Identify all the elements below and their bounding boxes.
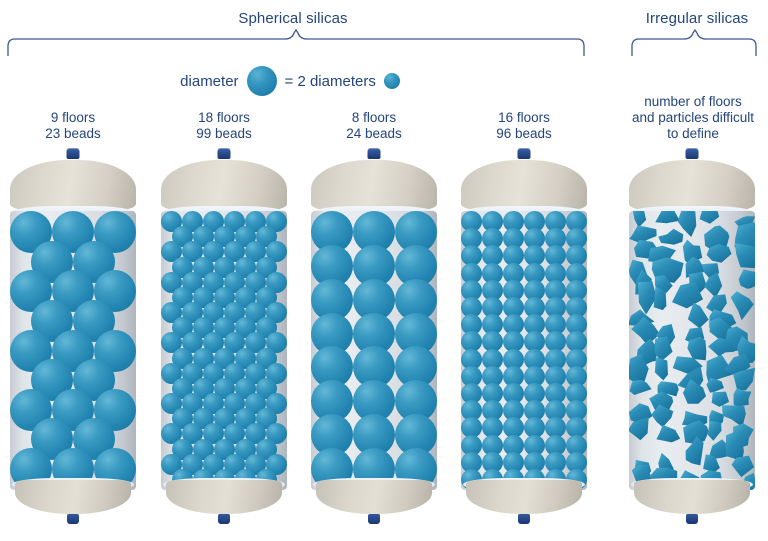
caption-column-3: 8 floors 24 beads — [311, 110, 437, 142]
brace-irregular — [630, 30, 758, 56]
caption-line-beads: 99 beads — [161, 126, 287, 142]
irregular-particle — [655, 211, 680, 223]
column-base — [466, 480, 582, 514]
irregular-particle — [656, 425, 680, 443]
column-base — [634, 480, 750, 514]
column-tube — [461, 211, 587, 490]
top-fitting-icon — [518, 148, 531, 159]
column-base — [166, 480, 282, 514]
caption-line-beads: 96 beads — [461, 126, 587, 142]
bottom-fitting-icon — [368, 514, 380, 524]
diagram-canvas: Spherical silicas Irregular silicas diam… — [0, 0, 768, 541]
small-bead-swatch-icon — [384, 73, 400, 89]
irregular-particle — [700, 211, 720, 224]
irregular-particle — [655, 357, 668, 380]
irregular-particle — [708, 421, 722, 441]
caption-column-1: 9 floors 23 beads — [10, 110, 136, 142]
group-title-spherical: Spherical silicas — [188, 10, 398, 27]
group-title-irregular: Irregular silicas — [612, 10, 768, 27]
column-base — [316, 480, 432, 514]
irregular-particle — [734, 388, 752, 407]
top-fitting-icon — [67, 148, 80, 159]
legend-prefix-label: diameter — [180, 73, 238, 90]
packing-area — [311, 211, 437, 490]
column-4 — [461, 148, 587, 536]
irregular-particle — [687, 337, 706, 361]
irregular-particle — [704, 272, 722, 298]
column-1 — [10, 148, 136, 536]
column-2 — [161, 148, 287, 536]
column-3 — [311, 148, 437, 536]
irregular-particle — [712, 392, 729, 407]
irregular-particle — [638, 281, 657, 314]
caption-line-floors: 8 floors — [311, 110, 437, 126]
caption-line-beads: 24 beads — [311, 126, 437, 142]
column-cap — [461, 160, 587, 210]
bottom-fitting-icon — [686, 514, 698, 524]
caption-line-floors: 9 floors — [10, 110, 136, 126]
column-tube — [10, 211, 136, 490]
legend-equals-label: = 2 diameters — [285, 73, 376, 90]
caption-column-4: 16 floors 96 beads — [461, 110, 587, 142]
irregular-particle — [630, 380, 652, 395]
packing-area — [461, 211, 587, 490]
irregular-particle — [688, 303, 709, 329]
caption-column-2: 18 floors 99 beads — [161, 110, 287, 142]
caption-line-1: number of floors — [618, 94, 768, 110]
caption-line-3: to define — [618, 126, 768, 142]
irregular-particle — [731, 291, 754, 320]
large-bead-swatch-icon — [247, 66, 277, 96]
caption-line-beads: 23 beads — [10, 126, 136, 142]
bottom-fitting-icon — [218, 514, 230, 524]
packing-area — [10, 211, 136, 490]
packing-area — [629, 211, 755, 490]
top-fitting-icon — [686, 148, 699, 159]
column-cap — [629, 160, 755, 210]
irregular-particle — [735, 243, 755, 268]
irregular-particle-field — [629, 211, 755, 490]
column-cap — [311, 160, 437, 210]
brace-spherical — [6, 30, 586, 56]
top-fitting-icon — [368, 148, 381, 159]
caption-line-floors: 16 floors — [461, 110, 587, 126]
column-tube — [161, 211, 287, 490]
irregular-particle — [739, 269, 755, 288]
column-base — [15, 480, 131, 514]
packing-area — [161, 211, 287, 490]
bottom-fitting-icon — [518, 514, 530, 524]
legend: diameter = 2 diameters — [0, 66, 580, 96]
column-tube — [311, 211, 437, 490]
irregular-particle — [633, 211, 646, 228]
column-cap — [161, 160, 287, 210]
caption-line-floors: 18 floors — [161, 110, 287, 126]
caption-line-2: and particles difficult — [618, 110, 768, 126]
column-tube — [629, 211, 755, 490]
column-5 — [629, 148, 755, 536]
column-cap — [10, 160, 136, 210]
bottom-fitting-icon — [67, 514, 79, 524]
top-fitting-icon — [218, 148, 231, 159]
irregular-particle — [658, 229, 683, 245]
caption-column-5: number of floors and particles difficult… — [618, 94, 768, 142]
